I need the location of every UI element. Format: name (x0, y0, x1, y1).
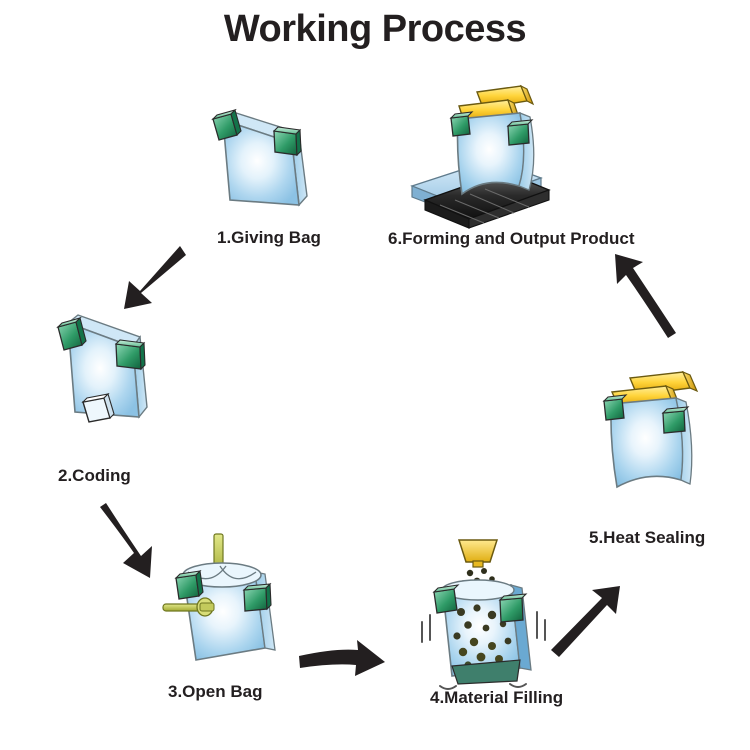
arrow-step3-to-step4 (299, 640, 385, 676)
step-2-label: 2.Coding (58, 466, 131, 486)
clamp-right-icon (500, 594, 526, 622)
arrow-step2-to-step3 (100, 503, 152, 578)
hopper-funnel-icon (459, 540, 497, 567)
working-process-diagram: Working Process (0, 0, 750, 750)
step-5-icon-heat-sealing (604, 372, 697, 487)
step-5-label: 5.Heat Sealing (589, 528, 705, 548)
step-3-label: 3.Open Bag (168, 682, 262, 702)
step-6-icon-forming-output (412, 86, 549, 228)
clamp-right-icon (274, 127, 301, 155)
arrow-step5-to-step6 (615, 254, 676, 338)
arrow-step1-to-step2 (124, 246, 186, 309)
arrow-step4-to-step5 (551, 586, 620, 657)
step-1-icon-giving-bag (213, 110, 307, 205)
process-illustration-canvas (0, 0, 750, 750)
clamp-left-icon (604, 395, 626, 420)
step-4-icon-material-filling (422, 540, 545, 689)
clamp-left-icon (434, 585, 458, 613)
clamp-left-icon (176, 571, 203, 599)
clamp-left-icon (451, 112, 472, 136)
coder-printer-icon (83, 394, 114, 422)
clamp-right-icon (244, 584, 271, 611)
clamp-right-icon (508, 120, 532, 145)
clamp-right-icon (116, 340, 145, 369)
step-6-label: 6.Forming and Output Product (388, 229, 634, 249)
clamp-left-icon (58, 318, 86, 350)
step-1-label: 1.Giving Bag (217, 228, 321, 248)
step-3-icon-open-bag (163, 534, 275, 660)
clamp-right-icon (663, 407, 688, 433)
step-4-label: 4.Material Filling (430, 688, 563, 708)
step-2-icon-coding (58, 315, 147, 422)
clamp-left-icon (213, 110, 241, 140)
